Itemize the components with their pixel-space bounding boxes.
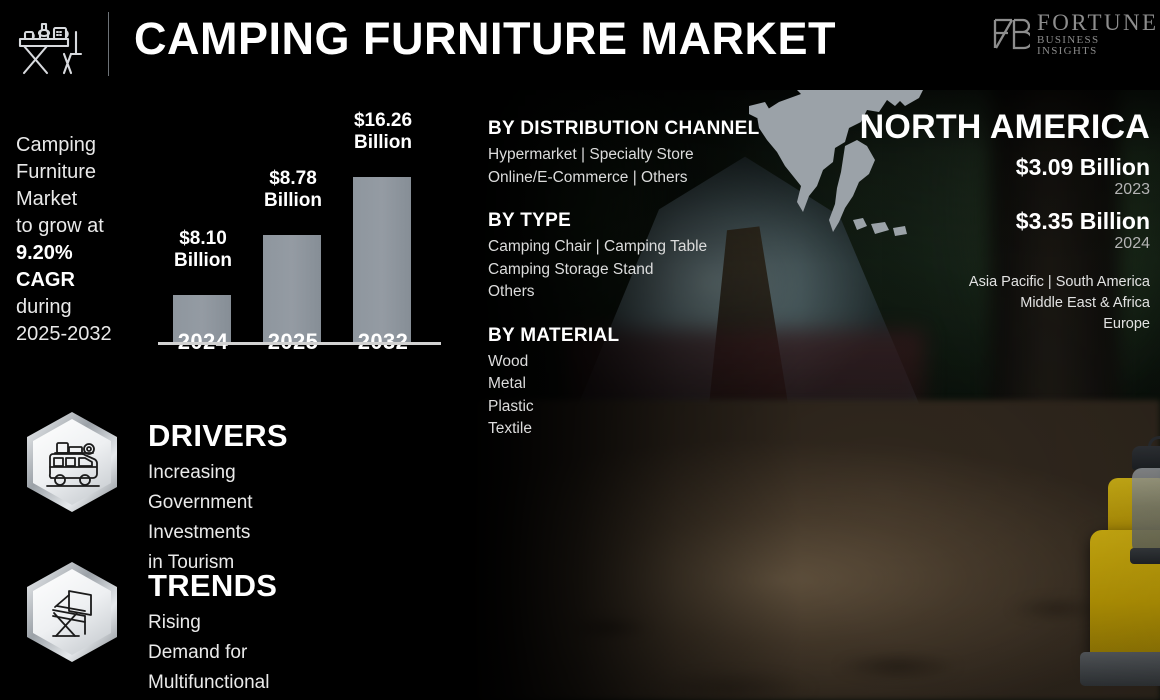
left-column: Camping Furniture Market to grow at 9.20…: [0, 90, 470, 700]
cagr-word: CAGR: [16, 269, 75, 291]
drivers-line-1: Increasing Government: [148, 462, 253, 513]
camping-table-chair-icon: [14, 10, 92, 78]
region-year-2024: 2024: [832, 234, 1150, 254]
segment-heading: BY MATERIAL: [488, 325, 828, 347]
fb-monogram-icon: [990, 17, 1030, 51]
bar-amount-2032: $16.26: [354, 110, 412, 131]
segment-type: BY TYPE Camping Chair | Camping Table Ca…: [488, 210, 828, 304]
cagr-statement: Camping Furniture Market to grow at 9.20…: [16, 132, 141, 348]
chart-x-axis: [158, 342, 441, 345]
other-region-line: Europe: [832, 314, 1150, 335]
drivers-body: Increasing Government Investments in Tou…: [148, 458, 253, 578]
trends-body: Rising Demand for Multifunctional Modula…: [148, 608, 269, 700]
cagr-period: 2025-2032: [16, 323, 112, 345]
fortune-business-insights-logo[interactable]: FORTUNE BUSINESS INSIGHTS: [990, 8, 1150, 60]
region-panel: NORTH AMERICA $3.09 Billion 2023 $3.35 B…: [832, 108, 1150, 335]
other-region-line: Asia Pacific | South America: [832, 272, 1150, 293]
segment-line: Metal: [488, 373, 828, 396]
region-year-2023: 2023: [832, 180, 1150, 200]
cagr-value: 9.20%: [16, 242, 73, 264]
region-title: NORTH AMERICA: [832, 108, 1150, 146]
bar-label-2024: $8.10 Billion: [148, 228, 258, 272]
other-region-line: Middle East & Africa: [832, 293, 1150, 314]
segment-distribution-channel: BY DISTRIBUTION CHANNEL Hypermarket | Sp…: [488, 118, 828, 189]
trends-badge: [23, 560, 121, 664]
cagr-line-1: Camping: [16, 134, 96, 156]
segment-line: Plastic: [488, 396, 828, 419]
logo-text: FORTUNE BUSINESS INSIGHTS: [1037, 11, 1158, 57]
segment-material: BY MATERIAL Wood Metal Plastic Textile: [488, 325, 828, 441]
cagr-line-2: Furniture: [16, 161, 96, 183]
region-value-2024: $3.35 Billion: [832, 209, 1150, 234]
bar-2032: [353, 177, 411, 342]
logo-subtitle: BUSINESS INSIGHTS: [1037, 35, 1158, 57]
segmentation-list: BY DISTRIBUTION CHANNEL Hypermarket | Sp…: [488, 118, 828, 462]
header-divider: [108, 12, 109, 76]
segment-line: Hypermarket | Specialty Store: [488, 144, 828, 167]
trends-line-1: Rising Demand for Multifunctional: [148, 612, 269, 693]
cagr-line-5: during: [16, 296, 72, 318]
camper-van-icon: [23, 410, 121, 514]
segment-line: Textile: [488, 418, 828, 441]
segment-line: Others: [488, 281, 828, 304]
other-regions-list: Asia Pacific | South America Middle East…: [832, 272, 1150, 335]
bar-unit-2025: Billion: [264, 190, 322, 211]
bar-amount-2025: $8.78: [269, 168, 317, 189]
segment-line: Camping Chair | Camping Table: [488, 236, 828, 259]
market-size-bar-chart: $8.10 Billion 2024 $8.78 Billion 2025 $1…: [150, 110, 450, 360]
trends-title: TRENDS: [148, 568, 277, 604]
bar-2025: [263, 235, 321, 342]
bar-unit-2032: Billion: [354, 132, 412, 153]
segment-heading: BY DISTRIBUTION CHANNEL: [488, 118, 828, 140]
segment-line: Wood: [488, 351, 828, 374]
cagr-line-3: Market: [16, 188, 77, 210]
segment-heading: BY TYPE: [488, 210, 828, 232]
drivers-title: DRIVERS: [148, 418, 288, 454]
bar-amount-2024: $8.10: [179, 228, 227, 249]
page-title: CAMPING FURNITURE MARKET: [134, 13, 836, 65]
drivers-badge: [23, 410, 121, 514]
header-bar: CAMPING FURNITURE MARKET FORTUNE BUSINES…: [0, 0, 1160, 90]
bar-unit-2024: Billion: [174, 250, 232, 271]
logo-name: FORTUNE: [1037, 11, 1158, 34]
segment-line: Online/E-Commerce | Others: [488, 167, 828, 190]
bar-label-2032: $16.26 Billion: [328, 110, 438, 154]
cagr-line-4: to grow at: [16, 215, 104, 237]
bar-label-2025: $8.78 Billion: [238, 168, 348, 212]
drivers-line-2: Investments in Tourism: [148, 522, 250, 573]
segment-line: Camping Storage Stand: [488, 259, 828, 282]
folding-chair-icon: [23, 560, 121, 664]
region-value-2023: $3.09 Billion: [832, 155, 1150, 180]
